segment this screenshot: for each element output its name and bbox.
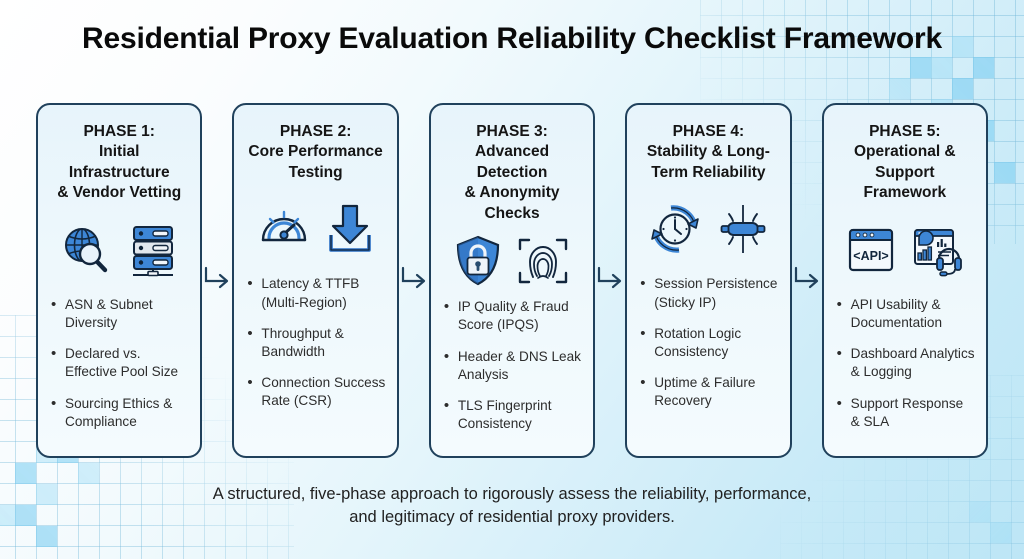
arrow-phase4-to-phase5 [792, 103, 822, 458]
phase-card-1[interactable]: PHASE 1: Initial Infrastructure & Vendor… [36, 103, 202, 458]
arrow-phase2-to-phase3 [399, 103, 429, 458]
list-item: API Usability & Documentation [836, 296, 976, 332]
phase-bullets-1: ASN & Subnet Diversity Declared vs. Effe… [48, 296, 190, 444]
arrow-phase3-to-phase4 [595, 103, 625, 458]
list-item: Header & DNS Leak Analysis [443, 348, 583, 384]
svg-text:<API>: <API> [853, 249, 888, 263]
infographic-canvas: Residential Proxy Evaluation Reliability… [0, 0, 1024, 559]
page-title: Residential Proxy Evaluation Reliability… [0, 22, 1024, 56]
phase-icons-2 [244, 193, 386, 265]
phase-heading-2: PHASE 2: Core Performance Testing [244, 122, 386, 183]
download-arrow-icon [325, 202, 375, 256]
durability-stress-icon [717, 202, 769, 256]
phase-heading-1: PHASE 1: Initial Infrastructure & Vendor… [48, 122, 190, 204]
list-item: Session Persistence (Sticky IP) [639, 275, 779, 311]
list-item: Dashboard Analytics & Logging [836, 345, 976, 381]
list-item: ASN & Subnet Diversity [50, 296, 190, 332]
phase-bullets-3: IP Quality & Fraud Score (IPQS) Header &… [441, 298, 583, 446]
list-item: Latency & TTFB (Multi-Region) [246, 275, 386, 311]
phase-icons-1 [48, 214, 190, 286]
footer-caption: A structured, five-phase approach to rig… [0, 483, 1024, 530]
speedometer-icon [257, 202, 311, 256]
globe-search-icon [59, 223, 113, 277]
list-item: Throughput & Bandwidth [246, 325, 386, 361]
phase-icons-3 [441, 234, 583, 288]
phase-icons-4 [637, 193, 779, 265]
phase-card-5[interactable]: PHASE 5: Operational & Support Framework… [822, 103, 988, 458]
list-item: Support Response & SLA [836, 395, 976, 431]
phase-card-2[interactable]: PHASE 2: Core Performance Testing [232, 103, 398, 458]
phase-heading-3: PHASE 3: Advanced Detection & Anonymity … [441, 122, 583, 224]
phase-bullets-5: API Usability & Documentation Dashboard … [834, 296, 976, 444]
phase-bullets-4: Session Persistence (Sticky IP) Rotation… [637, 275, 779, 423]
list-item: Connection Success Rate (CSR) [246, 374, 386, 410]
phase-heading-5: PHASE 5: Operational & Support Framework [834, 122, 976, 204]
server-rack-icon [127, 223, 179, 277]
arrow-phase1-to-phase2 [202, 103, 232, 458]
phase-icons-5: <API> [834, 214, 976, 286]
shield-lock-icon [454, 234, 502, 288]
list-item: TLS Fingerprint Consistency [443, 397, 583, 433]
clock-rotation-icon [647, 202, 703, 256]
phase-card-3[interactable]: PHASE 3: Advanced Detection & Anonymity … [429, 103, 595, 458]
dashboard-headset-icon [911, 223, 965, 277]
list-item: Sourcing Ethics & Compliance [50, 395, 190, 431]
list-item: IP Quality & Fraud Score (IPQS) [443, 298, 583, 334]
list-item: Declared vs. Effective Pool Size [50, 345, 190, 381]
list-item: Rotation Logic Consistency [639, 325, 779, 361]
phase-bullets-2: Latency & TTFB (Multi-Region) Throughput… [244, 275, 386, 423]
phase-row: PHASE 1: Initial Infrastructure & Vendor… [36, 103, 988, 458]
phase-card-4[interactable]: PHASE 4: Stability & Long- Term Reliabil… [625, 103, 791, 458]
fingerprint-scan-icon [516, 234, 570, 288]
phase-heading-4: PHASE 4: Stability & Long- Term Reliabil… [637, 122, 779, 183]
api-window-icon: <API> [845, 223, 897, 277]
list-item: Uptime & Failure Recovery [639, 374, 779, 410]
